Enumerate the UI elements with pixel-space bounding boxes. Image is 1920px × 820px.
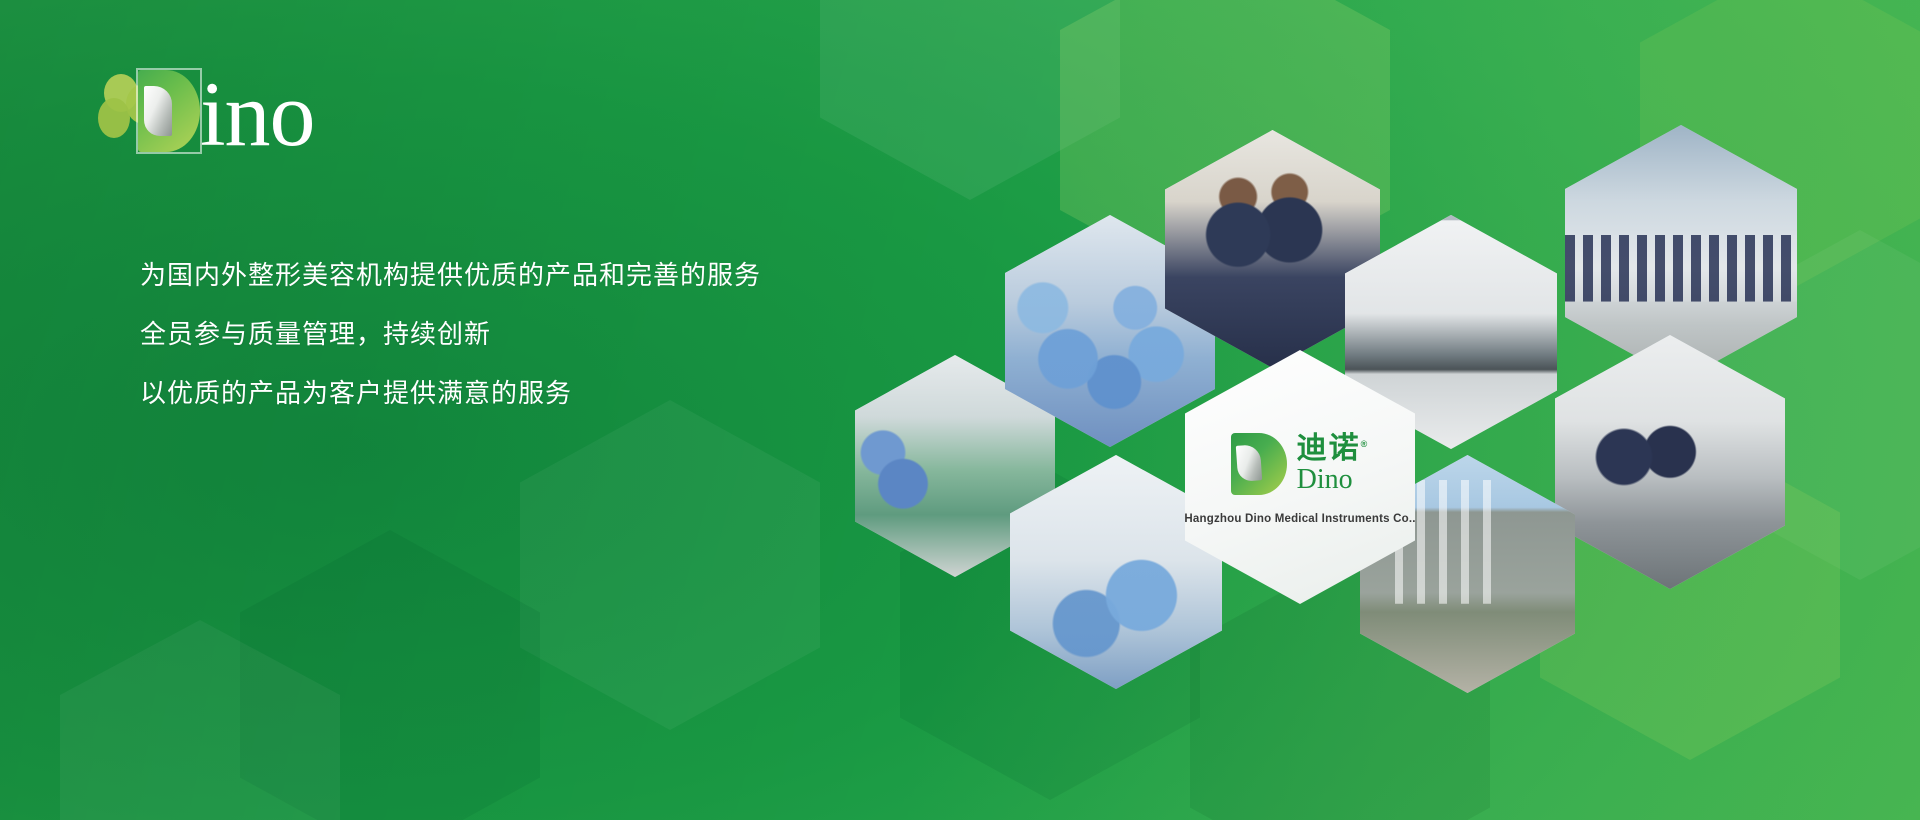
registered-mark-icon: ® [1361,439,1370,449]
brand-logo: ino [96,62,516,182]
logo-english-name: Dino [1297,466,1370,494]
tagline-2: 全员参与质量管理，持续创新 [140,321,761,347]
cnc-operators-photo [1555,335,1785,589]
logo-chinese-name: 迪诺® [1297,434,1370,464]
tagline-1: 为国内外整形美容机构提供优质的产品和完善的服务 [140,262,761,288]
hero-banner: 迪诺® Dino Hangzhou Dino Medical Instrumen… [0,0,1920,820]
dino-leaf-icon [1231,433,1287,495]
company-name-line: Hangzhou Dino Medical Instruments Co.. [1185,513,1415,525]
brand-wordmark: ino [200,68,315,160]
dino-logo: 迪诺® Dino [1231,433,1370,495]
dino-d-leaf-icon [138,70,200,152]
tagline-block: 为国内外整形美容机构提供优质的产品和完善的服务 全员参与质量管理，持续创新 以优… [140,262,761,406]
tagline-3: 以优质的产品为客户提供满意的服务 [140,380,761,406]
